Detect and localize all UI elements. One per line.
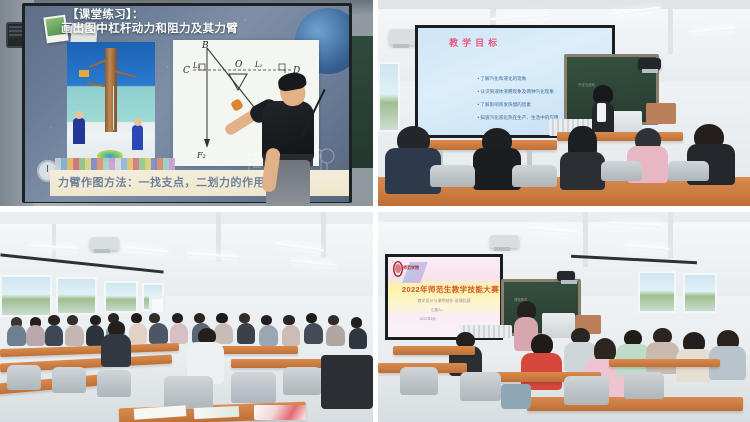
window	[638, 271, 675, 313]
student-head	[172, 313, 183, 324]
student-head	[351, 317, 362, 328]
collage-panel-top-right[interactable]: 教学目标 了解汽化和液化的现象 认识到液体沸腾现象及两种汽化现象 了解影响蒸发快…	[378, 0, 750, 206]
slide-presenter-line: 汇报人：	[431, 308, 445, 313]
student-torso	[282, 325, 301, 346]
audience-torso	[560, 152, 605, 189]
equipment-cabinet	[321, 355, 373, 410]
window	[104, 281, 138, 313]
student-torso	[7, 325, 26, 346]
student-torso	[26, 325, 45, 346]
projector	[490, 235, 520, 248]
svg-text:O: O	[235, 60, 243, 70]
collage-panel-bottom-left[interactable]	[0, 212, 373, 422]
chalkboard-text: 汽化与液化	[578, 83, 596, 88]
student-torso	[65, 325, 84, 346]
student-torso	[129, 323, 148, 344]
audience-torso	[646, 342, 679, 374]
decorative-item	[254, 405, 306, 420]
student-torso	[214, 323, 233, 344]
student-head	[306, 313, 317, 324]
student-head	[283, 315, 294, 326]
student-torso	[45, 325, 64, 346]
slide-title: 2022年师范生教学技能大赛	[402, 284, 499, 295]
illustration-bucket	[79, 70, 89, 77]
chair	[283, 367, 320, 394]
chair	[400, 367, 437, 394]
student-torso	[304, 323, 323, 344]
slide-subtitle: 教学设计与课件制作·说课比赛	[417, 298, 470, 304]
chair	[564, 376, 609, 405]
slide-title-line-2: 画出图中杠杆动力和阻力及其力臂	[61, 22, 311, 36]
ceiling-beam	[52, 224, 56, 258]
logo-institution-name: 师范学院	[403, 265, 419, 271]
audience-head	[531, 334, 553, 355]
chair	[52, 367, 86, 392]
student-torso-foreground	[101, 334, 131, 368]
teacher-figure	[236, 76, 332, 206]
window	[56, 277, 97, 315]
student-torso	[237, 323, 256, 344]
student-torso	[259, 325, 278, 346]
front-desk	[527, 397, 743, 412]
student-head	[194, 313, 205, 324]
chair	[7, 365, 41, 390]
slide-title: 教学目标	[449, 36, 501, 49]
chair	[624, 372, 665, 399]
illustration-rope	[113, 86, 114, 130]
svg-text:L₂: L₂	[192, 62, 201, 70]
illustration-person-left	[73, 118, 85, 144]
slide-title: 【课堂练习】： 画出图中杠杆动力和阻力及其力臂	[61, 8, 311, 36]
illustration-person-right	[132, 125, 143, 150]
svg-text:B: B	[201, 41, 209, 51]
wall-speaker-icon	[638, 58, 660, 70]
photo-full-classroom	[0, 212, 373, 422]
wall-notice	[149, 296, 166, 315]
svg-text:L₁: L₁	[254, 61, 263, 69]
institution-logo: 师范学院	[393, 261, 408, 277]
side-cabinet	[646, 103, 676, 124]
photo-physics-lesson: 【课堂练习】： 画出图中杠杆动力和阻力及其力臂	[0, 0, 373, 206]
student-head	[216, 313, 227, 324]
ceiling-beam	[668, 212, 673, 258]
ceiling-beam	[378, 0, 750, 9]
chair	[460, 372, 501, 401]
illustration-tree	[105, 48, 117, 142]
window	[0, 275, 52, 317]
ceiling-beam	[0, 212, 373, 224]
slide-illustration	[67, 42, 155, 170]
logo-seal-icon	[393, 261, 403, 277]
photo-collage: 【课堂练习】： 画出图中杠杆动力和阻力及其力臂	[0, 0, 750, 422]
student-torso	[349, 328, 368, 349]
student-head	[48, 315, 59, 326]
collage-panel-bottom-right[interactable]: 师范学院 2022年师范生教学技能大赛 教学设计与课件制作·说课比赛 汇报人： …	[378, 212, 750, 422]
illustration-branch	[87, 82, 105, 87]
ceiling-beam	[668, 9, 673, 54]
projector	[90, 237, 120, 250]
svg-text:F₂: F₂	[196, 151, 206, 160]
chair	[512, 165, 557, 188]
chair	[430, 165, 475, 188]
student-torso	[149, 323, 168, 344]
student-torso	[326, 325, 345, 346]
wall-speaker-icon	[557, 271, 576, 282]
chair	[164, 376, 212, 410]
student-desk	[393, 346, 475, 354]
chair	[97, 370, 131, 397]
student-torso	[170, 323, 189, 344]
photo-competition-presentation: 师范学院 2022年师范生教学技能大赛 教学设计与课件制作·说课比赛 汇报人： …	[378, 212, 750, 422]
chair	[231, 372, 276, 404]
window	[683, 273, 716, 313]
slide-title-line-1: 【课堂练习】：	[61, 8, 311, 22]
student-head	[131, 313, 142, 324]
presenter-shirt	[597, 103, 605, 122]
chair	[601, 161, 642, 182]
window	[378, 62, 400, 132]
slide-date-line: 2022年5月	[420, 316, 436, 321]
chair	[668, 161, 709, 182]
backpack	[501, 384, 531, 409]
photo-teacher-presentation: 教学目标 了解汽化和液化的现象 认识到液体沸腾现象及两种汽化现象 了解影响蒸发快…	[378, 0, 750, 206]
student-desk	[609, 359, 721, 367]
student-head	[239, 313, 250, 324]
svg-text:C: C	[183, 66, 190, 76]
student-head	[90, 315, 101, 326]
ceiling-beam	[378, 212, 750, 222]
illustration-branch	[115, 70, 137, 78]
collage-panel-top-left[interactable]: 【课堂练习】： 画出图中杠杆动力和阻力及其力臂	[0, 0, 373, 206]
